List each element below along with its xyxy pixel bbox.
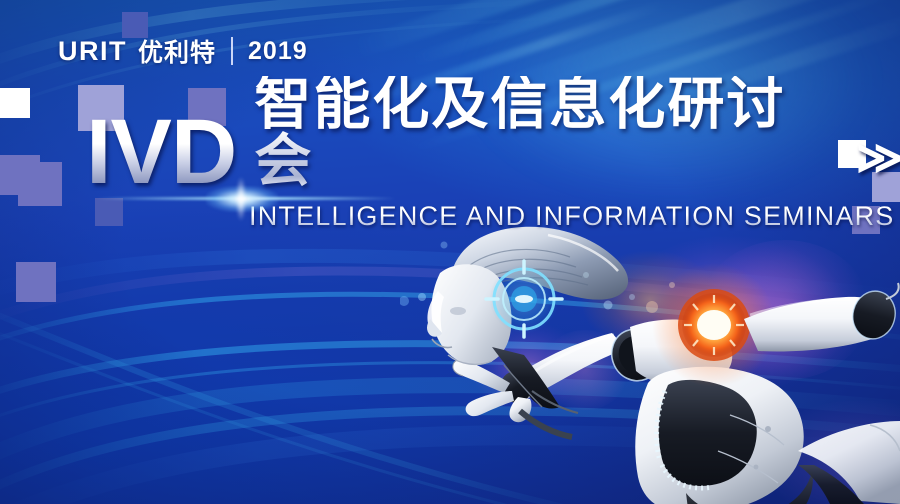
brand-name: URIT xyxy=(58,36,127,67)
brand-name-chinese: 优利特 xyxy=(138,33,216,69)
logo-divider xyxy=(231,37,233,65)
event-year: 2019 xyxy=(248,37,308,66)
square-violet-4 xyxy=(16,262,56,302)
brand-logo-row: URIT 优利特 2019 xyxy=(58,33,308,69)
title-main-row: IVD 智能化及信息化研讨会 ≫ xyxy=(0,100,900,196)
chevron-double-right-icon: ≫ xyxy=(856,130,900,184)
robot-lower-body xyxy=(798,421,900,504)
subtitle-english: INTELLIGENCE AND INFORMATION SEMINARS xyxy=(0,201,900,232)
title-block: IVD 智能化及信息化研讨会 ≫ INTELLIGENCE AND INFORM… xyxy=(0,100,900,232)
headline-chinese: 智能化及信息化研讨会 xyxy=(254,76,843,190)
humanoid-robot-figure xyxy=(400,215,900,504)
robot-torso xyxy=(635,367,813,504)
ivd-acronym: IVD xyxy=(86,109,236,196)
ivd-seminar-banner: URIT 优利特 2019 IVD 智能化及信息化研讨会 ≫ INTELLIGE… xyxy=(0,0,900,504)
